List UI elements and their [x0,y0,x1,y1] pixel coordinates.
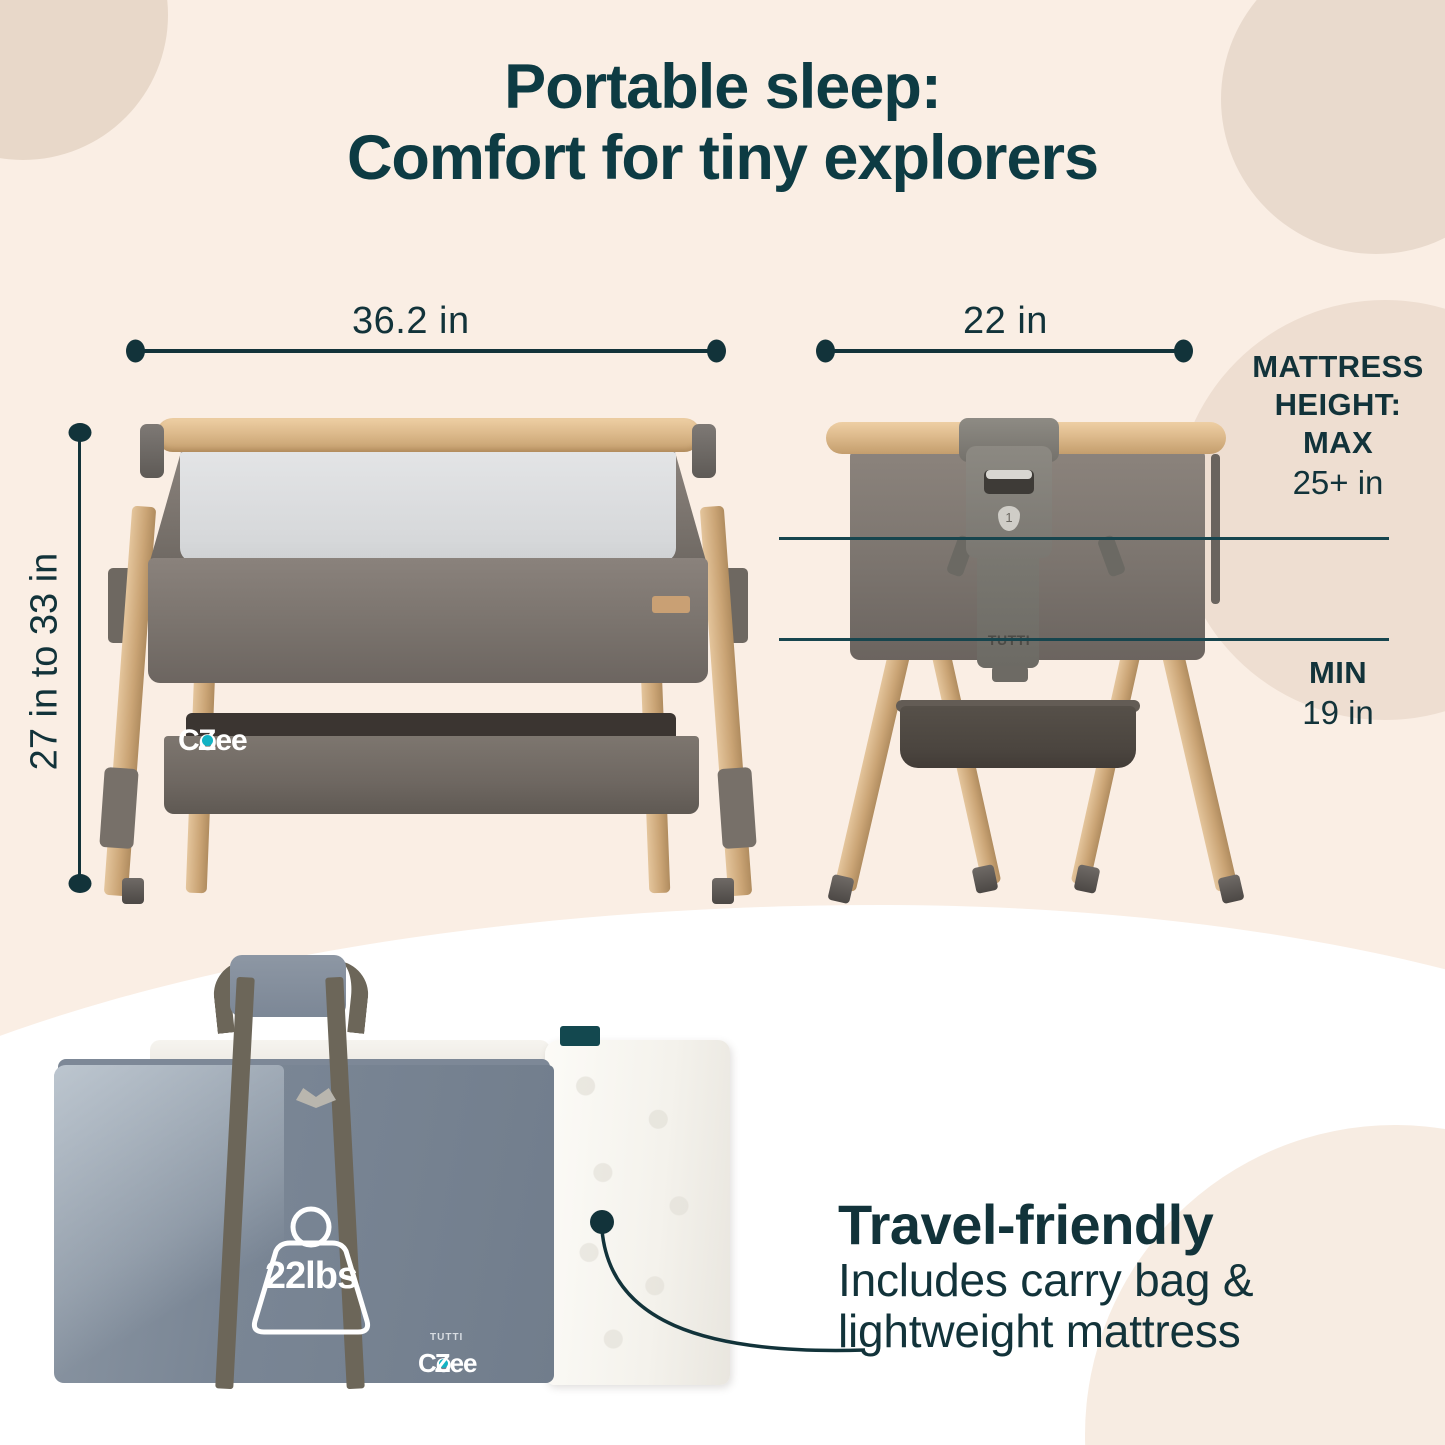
bag-tutti-brand-mark: TUTTI [430,1332,463,1343]
crib-leather-tag [652,596,690,613]
crib-front-foot-bracket-right [717,767,756,849]
height-dimension-label: 27 in to 33 in [24,512,67,812]
mattress-height-min-block: MIN 19 in [1238,655,1438,732]
bag-cozee-suffix: ee [450,1348,477,1378]
height-dimension-line [78,428,81,888]
mattress-height-title-line-1: MATTRESS [1238,348,1438,386]
crib-side-view-illustration: TUTTI 1 [826,418,1246,898]
width-dimension-label: 36.2 in [352,300,470,343]
crib-mesh-window [180,452,676,562]
mattress-min-reference-line [779,638,1389,641]
depth-dimension-label: 22 in [963,300,1048,343]
crib-side-foot-back-right [1074,864,1101,894]
travel-friendly-callout: Travel-friendly Includes carry bag & lig… [838,1196,1398,1358]
crib-side-foot-left [827,874,854,904]
crib-zipper-right [692,424,716,478]
cozee-logo-suffix: ee [215,724,246,757]
cozee-logo-dot-icon [202,735,213,746]
mattress-height-max-label: MAX [1238,424,1438,462]
crib-front-foot-left [122,878,144,904]
page-title-line-2: Comfort for tiny explorers [0,123,1445,194]
mattress-brand-tag [560,1026,600,1046]
crib-zipper-left [140,424,164,478]
bag-cozee-mid: Z [435,1348,450,1378]
page-title-line-1: Portable sleep: [504,52,941,122]
crib-adjust-slot-highlight [986,470,1032,479]
travel-friendly-line-2: lightweight mattress [838,1306,1398,1358]
width-dimension-line [132,349,720,353]
mattress-height-max-value: 25+ in [1238,463,1438,503]
mattress-height-max-block: MATTRESS HEIGHT: MAX 25+ in [1238,348,1438,503]
crib-side-storage-basket [900,706,1136,768]
crib-front-view-illustration: CoZee [108,418,748,898]
crib-adjust-hub [966,446,1052,558]
travel-friendly-line-1: Includes carry bag & [838,1255,1398,1307]
infographic-page: Portable sleep: Comfort for tiny explore… [0,0,1445,1445]
bag-cozee-logo: CoZee [418,1348,476,1379]
crib-side-clip [992,666,1028,682]
travel-friendly-title: Travel-friendly [838,1196,1398,1255]
crib-front-foot-right [712,878,734,904]
crib-side-foot-right [1217,874,1244,904]
cozee-brand-logo: CoZee [178,724,247,758]
crib-front-fabric-body [148,558,708,683]
mattress-height-min-label: MIN [1238,655,1438,691]
mattress-height-title-line-2: HEIGHT: [1238,386,1438,424]
depth-dimension-line [822,349,1187,353]
mattress-max-reference-line [779,537,1389,540]
weight-value-label: 22lbs [236,1255,386,1298]
mattress-height-min-value: 19 in [1238,694,1438,732]
crib-front-foot-bracket-left [99,767,138,849]
page-title: Portable sleep: Comfort for tiny explore… [0,52,1445,193]
callout-leader-line [590,1210,870,1390]
crib-side-zipper [1211,454,1220,604]
crib-wooden-top-rail [156,418,701,452]
